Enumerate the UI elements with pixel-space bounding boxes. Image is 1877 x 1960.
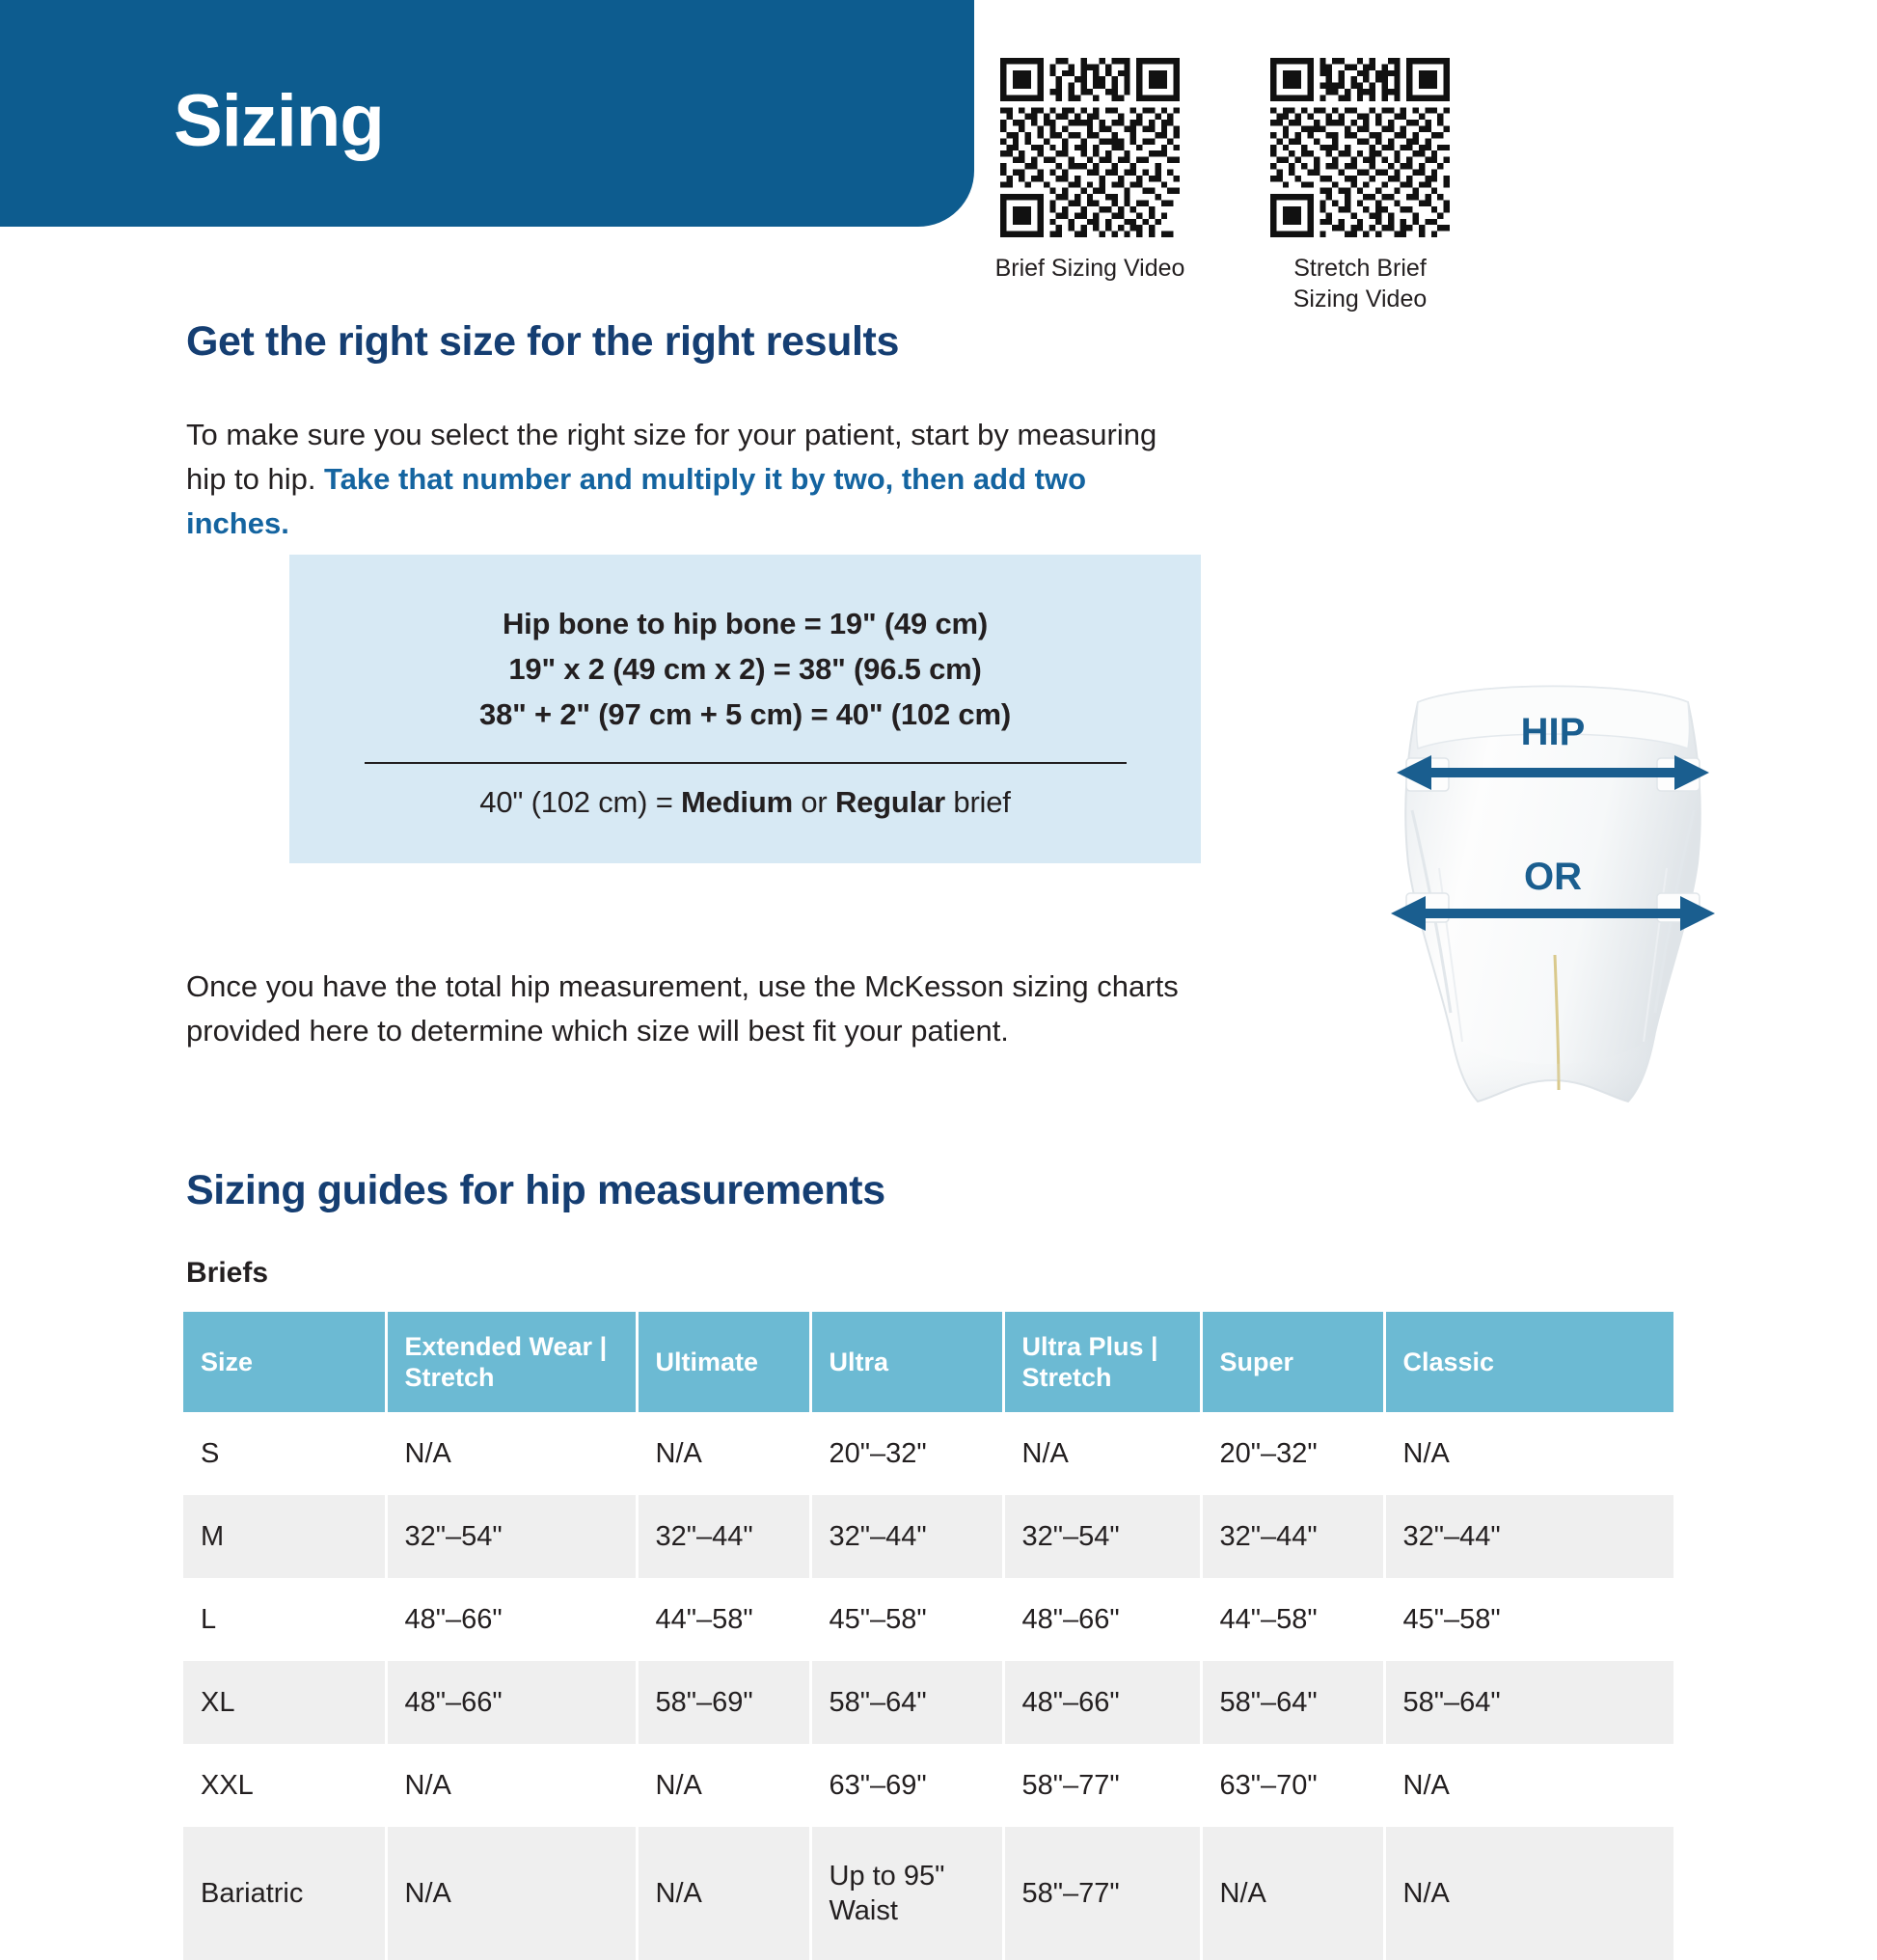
briefs-sizing-table: Size Extended Wear | Stretch Ultimate Ul… [183,1312,1673,1960]
calc-result-suffix: brief [945,785,1011,819]
cell-ultra-plus-stretch: 58"–77" [1003,1827,1201,1960]
cell-ultra-plus-stretch: 48"–66" [1003,1661,1201,1744]
table-row: Bariatric N/A N/A Up to 95" Waist 58"–77… [183,1827,1673,1960]
cell-ultimate: N/A [637,1412,810,1495]
table-row: L 48"–66" 44"–58" 45"–58" 48"–66" 44"–58… [183,1578,1673,1661]
table-header-row: Size Extended Wear | Stretch Ultimate Ul… [183,1312,1673,1412]
cell-size: M [183,1495,386,1578]
cell-ultra: 20"–32" [810,1412,1003,1495]
calc-line-1: Hip bone to hip bone = 19" (49 cm) [289,601,1201,646]
cell-classic: 45"–58" [1384,1578,1673,1661]
cell-ultra-plus-stretch: 32"–54" [1003,1495,1201,1578]
qr-block-stretch-brief-sizing-video[interactable]: Stretch Brief Sizing Video [1264,58,1456,314]
product-label-or: OR [1524,856,1582,898]
cell-ultra: 63"–69" [810,1744,1003,1827]
cell-size: XL [183,1661,386,1744]
cell-super: 20"–32" [1201,1412,1384,1495]
cell-size: S [183,1412,386,1495]
calc-line-3: 38" + 2" (97 cm + 5 cm) = 40" (102 cm) [289,692,1201,737]
cell-ultra: Up to 95" Waist [810,1827,1003,1960]
cell-ultimate: N/A [637,1827,810,1960]
section-heading-guides: Sizing guides for hip measurements [186,1167,885,1214]
cell-ultra-plus-stretch: 58"–77" [1003,1744,1201,1827]
calc-result-prefix: 40" (102 cm) = [479,785,681,819]
calc-result: 40" (102 cm) = Medium or Regular brief [289,785,1201,820]
stretch-brief-sizing-video-qr-icon[interactable] [1270,58,1450,237]
cell-ultra: 32"–44" [810,1495,1003,1578]
qr-caption-stretch-brief-sizing-video: Stretch Brief Sizing Video [1264,253,1456,314]
brief-sizing-video-qr-icon[interactable] [1000,58,1180,237]
cell-extended-wear-stretch: N/A [386,1744,637,1827]
table-header-extended-wear-stretch: Extended Wear | Stretch [386,1312,637,1412]
cell-ultimate: 44"–58" [637,1578,810,1661]
table-row: M 32"–54" 32"–44" 32"–44" 32"–54" 32"–44… [183,1495,1673,1578]
cell-classic: 58"–64" [1384,1661,1673,1744]
cell-ultra-plus-stretch: N/A [1003,1412,1201,1495]
cell-ultra: 58"–64" [810,1661,1003,1744]
cell-extended-wear-stretch: N/A [386,1412,637,1495]
cell-classic: N/A [1384,1744,1673,1827]
table-row: S N/A N/A 20"–32" N/A 20"–32" N/A [183,1412,1673,1495]
cell-size: Bariatric [183,1827,386,1960]
product-label-hip: HIP [1521,711,1586,753]
header-banner: Sizing [0,0,974,227]
cell-ultra-plus-stretch: 48"–66" [1003,1578,1201,1661]
cell-ultimate: N/A [637,1744,810,1827]
table-header-super: Super [1201,1312,1384,1412]
cell-ultra: 45"–58" [810,1578,1003,1661]
product-brief-image: HIP OR [1379,666,1727,1119]
cell-extended-wear-stretch: 48"–66" [386,1578,637,1661]
qr-block-brief-sizing-video[interactable]: Brief Sizing Video [993,58,1186,314]
calc-result-size-medium: Medium [681,785,793,819]
table-header-size: Size [183,1312,386,1412]
cell-ultimate: 58"–69" [637,1661,810,1744]
calculation-box: Hip bone to hip bone = 19" (49 cm) 19" x… [289,555,1201,863]
table-row: XXL N/A N/A 63"–69" 58"–77" 63"–70" N/A [183,1744,1673,1827]
section-heading-main: Get the right size for the right results [186,318,899,366]
table-header-classic: Classic [1384,1312,1673,1412]
calc-line-2: 19" x 2 (49 cm x 2) = 38" (96.5 cm) [289,646,1201,692]
cell-super: N/A [1201,1827,1384,1960]
cell-extended-wear-stretch: 48"–66" [386,1661,637,1744]
cell-super: 58"–64" [1201,1661,1384,1744]
page-title: Sizing [174,85,384,158]
table-title-briefs: Briefs [186,1257,268,1290]
cell-super: 63"–70" [1201,1744,1384,1827]
cell-extended-wear-stretch: 32"–54" [386,1495,637,1578]
cell-ultimate: 32"–44" [637,1495,810,1578]
cell-super: 44"–58" [1201,1578,1384,1661]
cell-size: L [183,1578,386,1661]
brief-illustration-icon: HIP OR [1379,666,1727,1119]
calc-result-size-regular: Regular [835,785,945,819]
cell-classic: N/A [1384,1412,1673,1495]
table-row: XL 48"–66" 58"–69" 58"–64" 48"–66" 58"–6… [183,1661,1673,1744]
table-header-ultra-plus-stretch: Ultra Plus | Stretch [1003,1312,1201,1412]
table-header-ultra: Ultra [810,1312,1003,1412]
calc-result-mid: or [793,785,835,819]
cell-size: XXL [183,1744,386,1827]
qr-caption-brief-sizing-video: Brief Sizing Video [993,253,1186,284]
cell-classic: 32"–44" [1384,1495,1673,1578]
table-header-ultimate: Ultimate [637,1312,810,1412]
cell-super: 32"–44" [1201,1495,1384,1578]
qr-code-group: Brief Sizing Video [993,58,1534,314]
calc-divider [365,762,1127,764]
intro-paragraph: To make sure you select the right size f… [186,413,1160,546]
cell-classic: N/A [1384,1827,1673,1960]
instructions-paragraph: Once you have the total hip measurement,… [186,965,1257,1053]
cell-extended-wear-stretch: N/A [386,1827,637,1960]
